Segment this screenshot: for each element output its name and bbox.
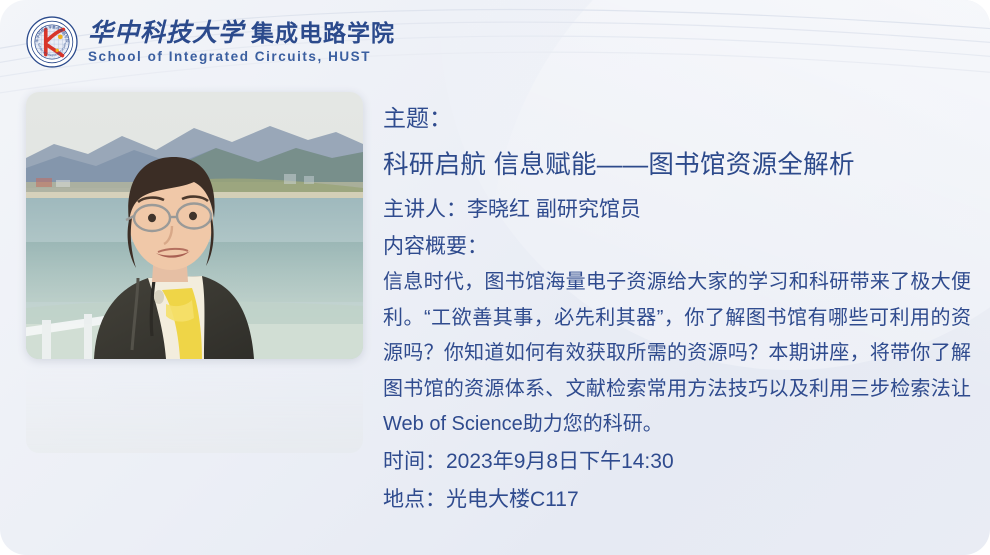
portrait-reflection bbox=[26, 361, 363, 453]
speaker-line: 主讲人：李晓红 副研究馆员 bbox=[383, 190, 969, 229]
school-name-en: School of Integrated Circuits, HUST bbox=[88, 50, 395, 64]
location-line: 地点：光电大楼C117 bbox=[383, 481, 969, 519]
portrait-image bbox=[26, 92, 363, 359]
speaker-portrait bbox=[26, 92, 363, 359]
page-title: 科研启航 信息赋能——图书馆资源全解析 bbox=[383, 140, 969, 190]
time-line: 时间：2023年9月8日下午14:30 bbox=[383, 443, 969, 481]
logo-wordmark: 华中科技大学 集成电路学院 School of Integrated Circu… bbox=[88, 21, 395, 64]
topic-label: 主题： bbox=[383, 96, 969, 140]
university-seal-icon: 华中科技大学集成电路学院 School of Integrated Circui… bbox=[26, 16, 78, 68]
slide-content: 主题： 科研启航 信息赋能——图书馆资源全解析 主讲人：李晓红 副研究馆员 内容… bbox=[383, 96, 969, 519]
slide-header: 华中科技大学集成电路学院 School of Integrated Circui… bbox=[26, 16, 395, 68]
presentation-slide: 华中科技大学集成电路学院 School of Integrated Circui… bbox=[0, 0, 990, 555]
school-name-cn: 集成电路学院 bbox=[251, 22, 395, 45]
university-name-cn: 华中科技大学 bbox=[88, 21, 244, 46]
summary-text: 信息时代，图书馆海量电子资源给大家的学习和科研带来了极大便利。“工欲善其事，必先… bbox=[383, 265, 971, 443]
summary-label: 内容概要： bbox=[383, 229, 969, 265]
